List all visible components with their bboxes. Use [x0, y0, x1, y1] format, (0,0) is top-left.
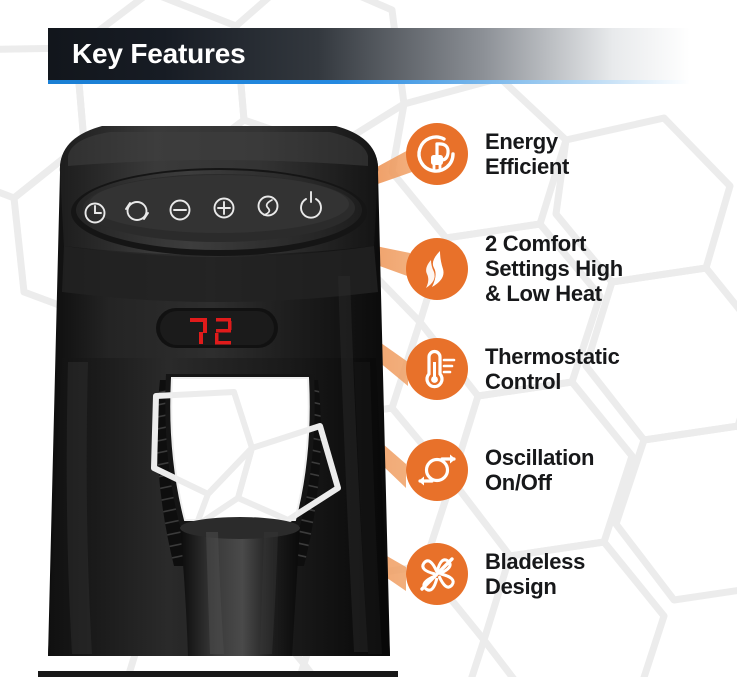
bladeless-fan-icon — [406, 543, 468, 605]
feature-label: Bladeless Design — [485, 549, 585, 599]
flame-heat-icon — [406, 238, 468, 300]
bottom-product-sliver — [38, 671, 398, 677]
page-title: Key Features — [72, 38, 245, 70]
feature-bladeless-design[interactable]: Bladeless Design — [406, 543, 585, 605]
infographic-canvas: Key Features — [0, 0, 737, 677]
feature-label: Oscillation On/Off — [485, 445, 594, 495]
header-accent-rule — [48, 80, 690, 84]
feature-thermostatic-control[interactable]: Thermostatic Control — [406, 338, 620, 400]
feature-label: Energy Efficient — [485, 129, 569, 179]
led-display — [156, 308, 278, 348]
thermometer-icon — [406, 338, 468, 400]
bottom-partial-strip — [0, 671, 737, 677]
feature-label: 2 Comfort Settings High & Low Heat — [485, 231, 623, 306]
feature-energy-efficient[interactable]: Energy Efficient — [406, 123, 569, 185]
feature-oscillation[interactable]: Oscillation On/Off — [406, 439, 594, 501]
energy-efficient-icon — [406, 123, 468, 185]
feature-comfort-settings[interactable]: 2 Comfort Settings High & Low Heat — [406, 231, 623, 306]
product-image — [38, 96, 398, 670]
oscillation-icon — [406, 439, 468, 501]
feature-label: Thermostatic Control — [485, 344, 620, 394]
